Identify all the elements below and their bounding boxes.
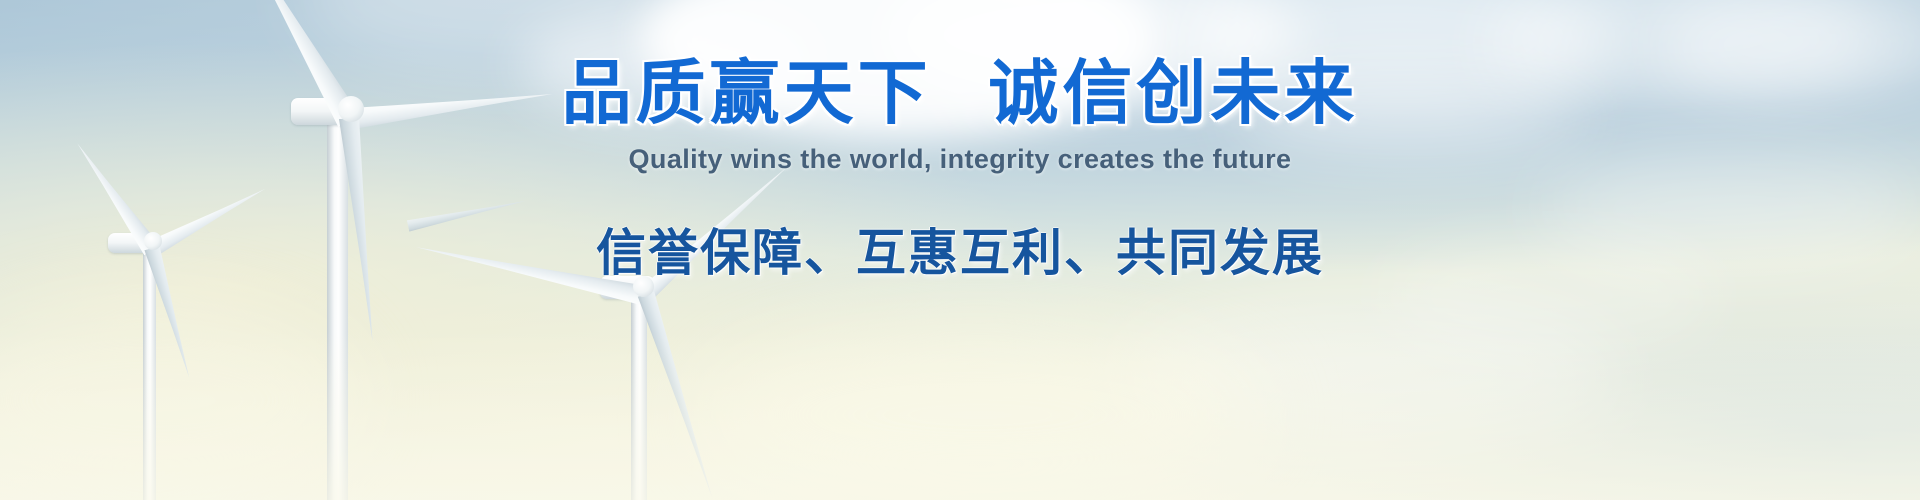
banner-copy: 品质赢天下 诚信创未来 Quality wins the world, inte… [0,58,1920,285]
horizon-haze [0,330,1920,500]
banner-headline: 品质赢天下 诚信创未来 [0,58,1920,128]
hero-banner: 品质赢天下 诚信创未来 Quality wins the world, inte… [0,0,1920,500]
banner-tagline: 信誉保障、互惠互利、共同发展 [0,213,1920,285]
banner-subheadline: Quality wins the world, integrity create… [0,144,1920,175]
